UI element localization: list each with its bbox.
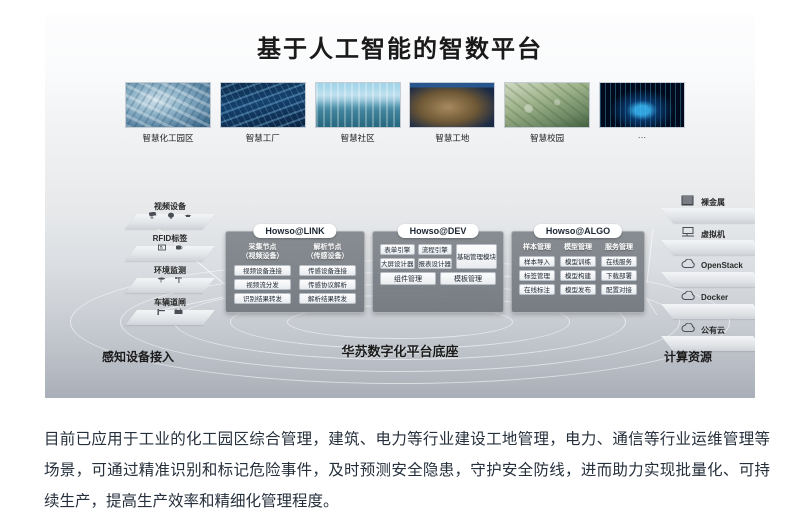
module-chip[interactable]: 模板管理 <box>440 272 496 285</box>
stack-layer-plate <box>661 272 755 287</box>
bullet-camera-icon <box>184 212 192 219</box>
module-column-parse-node: 解析节点 （传感设备） 传感设备连接 传感协议解析 解析结果转发 <box>299 244 356 304</box>
sensor-dish-icon <box>157 276 166 283</box>
stack-layer-icons <box>673 195 694 206</box>
stack-layer-plate <box>661 304 755 319</box>
scene-item[interactable]: 智慧社区 <box>315 82 401 150</box>
module-chip[interactable]: 识别结果转发 <box>234 293 291 304</box>
ai-platform-diagram-panel: 基于人工智能的智数平台 智慧化工园区 智慧工厂 智慧社区 智慧工地 智慧校园 ·… <box>45 15 755 398</box>
module-chip[interactable]: 报表设计器 <box>418 258 453 269</box>
weather-station-icon <box>175 276 183 283</box>
module-card-link[interactable]: Howso@LINK 采集节点 （视频设备） 视频设备连接 视频流分发 识别结果… <box>225 231 365 313</box>
stack-layer-icons <box>673 323 697 333</box>
module-column-head: 解析节点 （传感设备） <box>299 244 356 262</box>
scene-item[interactable]: 智慧工厂 <box>220 82 306 150</box>
anpr-camera-icon <box>174 308 183 315</box>
module-badge-dev: Howso@DEV <box>398 224 479 238</box>
stack-layer-icons <box>131 276 209 283</box>
stack-layer-label: 环境监测 <box>131 265 209 276</box>
stack-layer-label: 公有云 <box>701 325 729 336</box>
module-chip[interactable]: 基础管理模块 <box>456 244 497 269</box>
stack-layer-virtual-machine[interactable]: 虚拟机 <box>667 227 755 257</box>
compute-resource-stack: 裸金属 虚拟机 OpenStack Docker <box>667 195 755 353</box>
module-base-management: 基础管理模块 <box>456 244 497 269</box>
stack-layer-plate <box>661 240 755 255</box>
module-chip[interactable]: 传感设备连接 <box>299 265 356 276</box>
module-column-model-management: 模型管理 模型训练 模型构建 模型发布 <box>560 244 596 295</box>
compute-stack-caption: 计算资源 <box>623 348 753 365</box>
module-badge-link: Howso@LINK <box>253 224 336 238</box>
module-chip[interactable]: 配置对接 <box>601 284 637 295</box>
module-chip[interactable]: 流程引擎 <box>418 244 453 255</box>
server-rack-icon <box>681 195 694 206</box>
module-card-dev[interactable]: Howso@DEV 表单引擎 流程引擎 大屏设计器 报表设计器 基础管理模块 组… <box>372 231 504 313</box>
virtual-machine-icon <box>681 227 695 238</box>
module-chip[interactable]: 传感协议解析 <box>299 279 356 290</box>
stack-layer-label: 裸金属 <box>701 197 729 208</box>
scene-label: 智慧化工园区 <box>125 132 211 144</box>
scene-thumbnail-row: 智慧化工园区 智慧工厂 智慧社区 智慧工地 智慧校园 ··· <box>125 82 685 150</box>
smart-factory-thumb <box>220 82 306 128</box>
cloud-icon <box>681 323 697 333</box>
module-engine-grid: 表单引擎 流程引擎 大屏设计器 报表设计器 <box>380 244 452 269</box>
module-column-head: 服务管理 <box>601 244 637 253</box>
scene-label: 智慧工地 <box>409 132 495 144</box>
scene-label: 智慧校园 <box>504 132 590 144</box>
scene-label: 智慧社区 <box>315 132 401 144</box>
more-scenes-thumb <box>599 82 685 128</box>
stack-layer-icons <box>131 244 209 251</box>
module-chip[interactable]: 视频流分发 <box>234 279 291 290</box>
module-chip[interactable]: 在线标注 <box>519 284 555 295</box>
stack-layer-label: 虚拟机 <box>701 229 729 240</box>
stack-layer-vehicle-barrier[interactable]: 车辆道闸 <box>131 297 209 327</box>
stack-layer-label: 车辆道闸 <box>131 297 209 308</box>
scene-label: ··· <box>599 132 685 142</box>
stack-layer-label: OpenStack <box>701 261 747 270</box>
module-chip[interactable]: 大屏设计器 <box>380 258 415 269</box>
module-chip[interactable]: 在线服务 <box>601 256 637 267</box>
module-column-service-management: 服务管理 在线服务 下载部署 配置对接 <box>601 244 637 295</box>
stack-layer-label: 视频设备 <box>131 201 209 212</box>
module-chip[interactable]: 模型构建 <box>560 270 596 281</box>
stack-layer-label: RFID标签 <box>131 233 209 244</box>
module-bottom-row: 组件管理 模板管理 <box>380 272 496 285</box>
barrier-gate-icon <box>157 308 165 315</box>
smart-campus-thumb <box>504 82 590 128</box>
stack-layer-icons <box>673 227 695 238</box>
chemical-park-aerial-thumb <box>125 82 211 128</box>
scene-item[interactable]: ··· <box>599 82 685 150</box>
module-column-sample-management: 样本管理 样本导入 标签管理 在线标注 <box>519 244 555 295</box>
rfid-tag-icon <box>158 244 166 251</box>
module-chip[interactable]: 表单引擎 <box>380 244 415 255</box>
module-chip[interactable]: 标签管理 <box>519 270 555 281</box>
stack-layer-icons <box>673 259 697 269</box>
stack-layer-video-device[interactable]: 视频设备 <box>131 201 209 231</box>
stack-layer-icons <box>131 212 209 219</box>
module-chip[interactable]: 解析结果转发 <box>299 293 356 304</box>
module-column-head: 采集节点 （视频设备） <box>234 244 291 262</box>
diagram-title: 基于人工智能的智数平台 <box>45 29 755 64</box>
scene-label: 智慧工厂 <box>220 132 306 144</box>
module-card-algo[interactable]: Howso@ALGO 样本管理 样本导入 标签管理 在线标注 模型管理 模型训练… <box>511 231 645 313</box>
smart-community-thumb <box>315 82 401 128</box>
cloud-icon <box>681 291 697 301</box>
stack-layer-bare-metal[interactable]: 裸金属 <box>667 195 755 225</box>
stack-layer-plate <box>661 208 755 223</box>
dome-camera-icon <box>167 212 175 219</box>
module-badge-algo: Howso@ALGO <box>534 224 622 238</box>
stack-layer-icons <box>673 291 697 301</box>
description-paragraph: 目前已应用于工业的化工园区综合管理，建筑、电力等行业建设工地管理，电力、通信等行… <box>44 424 770 517</box>
cctv-camera-icon <box>149 212 158 219</box>
module-chip[interactable]: 样本导入 <box>519 256 555 267</box>
scene-item[interactable]: 智慧校园 <box>504 82 590 150</box>
stack-layer-icons <box>131 308 209 315</box>
module-column-head: 样本管理 <box>519 244 555 253</box>
scene-item[interactable]: 智慧化工园区 <box>125 82 211 150</box>
scene-item[interactable]: 智慧工地 <box>409 82 495 150</box>
stack-layer-label: Docker <box>701 293 732 302</box>
stack-layer-docker[interactable]: Docker <box>667 291 755 321</box>
module-chip[interactable]: 模型训练 <box>560 256 596 267</box>
stack-layer-environment-monitor[interactable]: 环境监测 <box>131 265 209 295</box>
stack-layer-openstack[interactable]: OpenStack <box>667 259 755 289</box>
module-chip[interactable]: 模型发布 <box>560 284 596 295</box>
module-chip[interactable]: 下载部署 <box>601 270 637 281</box>
module-column-head: 模型管理 <box>560 244 596 253</box>
rfid-reader-icon <box>175 244 183 251</box>
module-column-collect-node: 采集节点 （视频设备） 视频设备连接 视频流分发 识别结果转发 <box>234 244 291 304</box>
stack-layer-rfid-tag[interactable]: RFID标签 <box>131 233 209 263</box>
construction-site-dashboard-thumb <box>409 82 495 128</box>
module-chip[interactable]: 视频设备连接 <box>234 265 291 276</box>
module-chip[interactable]: 组件管理 <box>380 272 436 285</box>
perception-stack-caption: 感知设备接入 <box>73 348 203 365</box>
perception-device-stack: 视频设备 RFID标签 环境监测 车辆道闸 <box>131 201 209 327</box>
cloud-icon <box>681 259 697 269</box>
